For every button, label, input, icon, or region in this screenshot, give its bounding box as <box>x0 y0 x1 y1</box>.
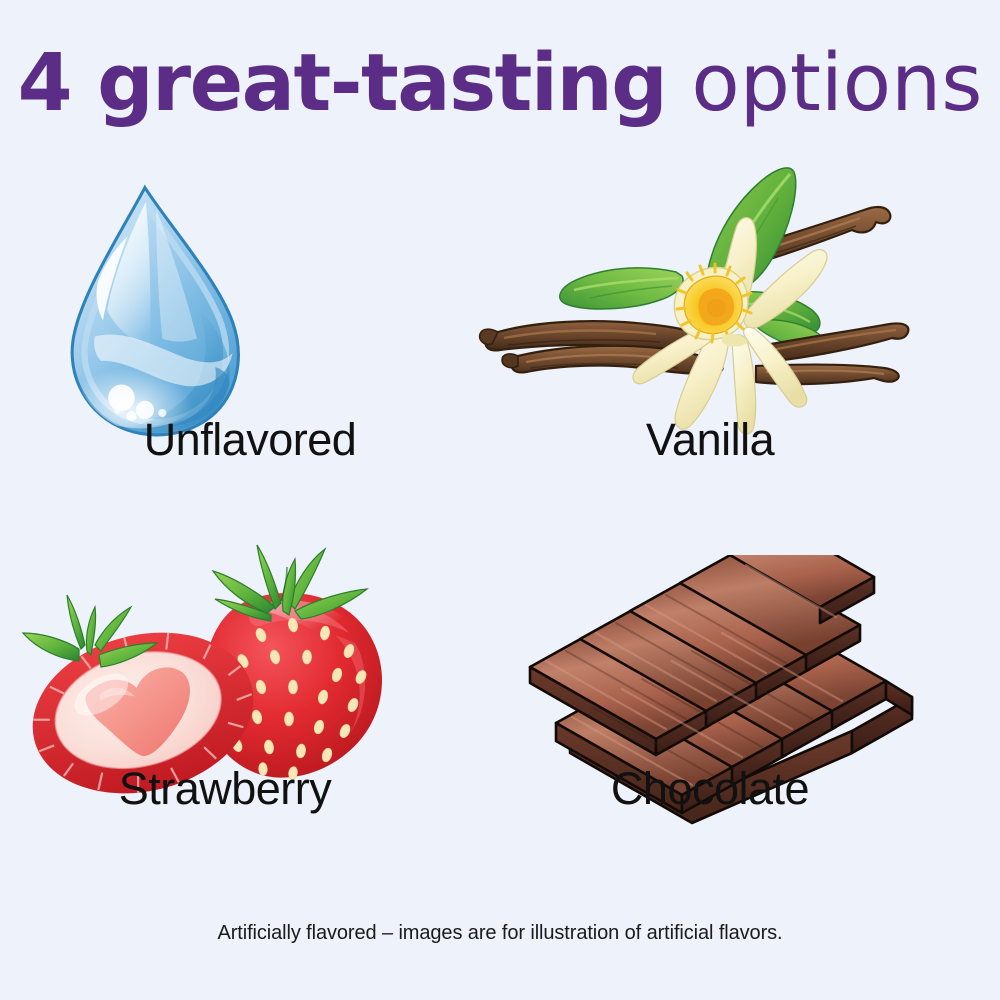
water-droplet-icon <box>0 160 500 450</box>
footnote-disclaimer: Artificially flavored – images are for i… <box>0 922 1000 945</box>
promo-page: 4 great-tasting options <box>0 0 1000 1000</box>
strawberry-icon <box>0 515 475 805</box>
flavor-card-unflavored[interactable]: Unflavored <box>0 160 500 520</box>
page-title-emphasis: 4 great-tasting <box>18 37 667 129</box>
page-title: 4 great-tasting options <box>0 44 1000 123</box>
flavor-label-vanilla: Vanilla <box>460 414 960 466</box>
flavor-label-strawberry: Strawberry <box>0 763 475 815</box>
flavor-grid: Unflavored <box>0 160 1000 880</box>
flavor-label-unflavored: Unflavored <box>0 414 500 466</box>
vanilla-flower-and-beans-icon <box>460 160 960 450</box>
page-title-rest: options <box>666 37 982 129</box>
flavor-label-chocolate: Chocolate <box>460 763 960 815</box>
flavor-card-chocolate[interactable]: Chocolate <box>460 555 960 915</box>
flavor-card-vanilla[interactable]: Vanilla <box>460 160 960 520</box>
flavor-card-strawberry[interactable]: Strawberry <box>0 515 475 875</box>
